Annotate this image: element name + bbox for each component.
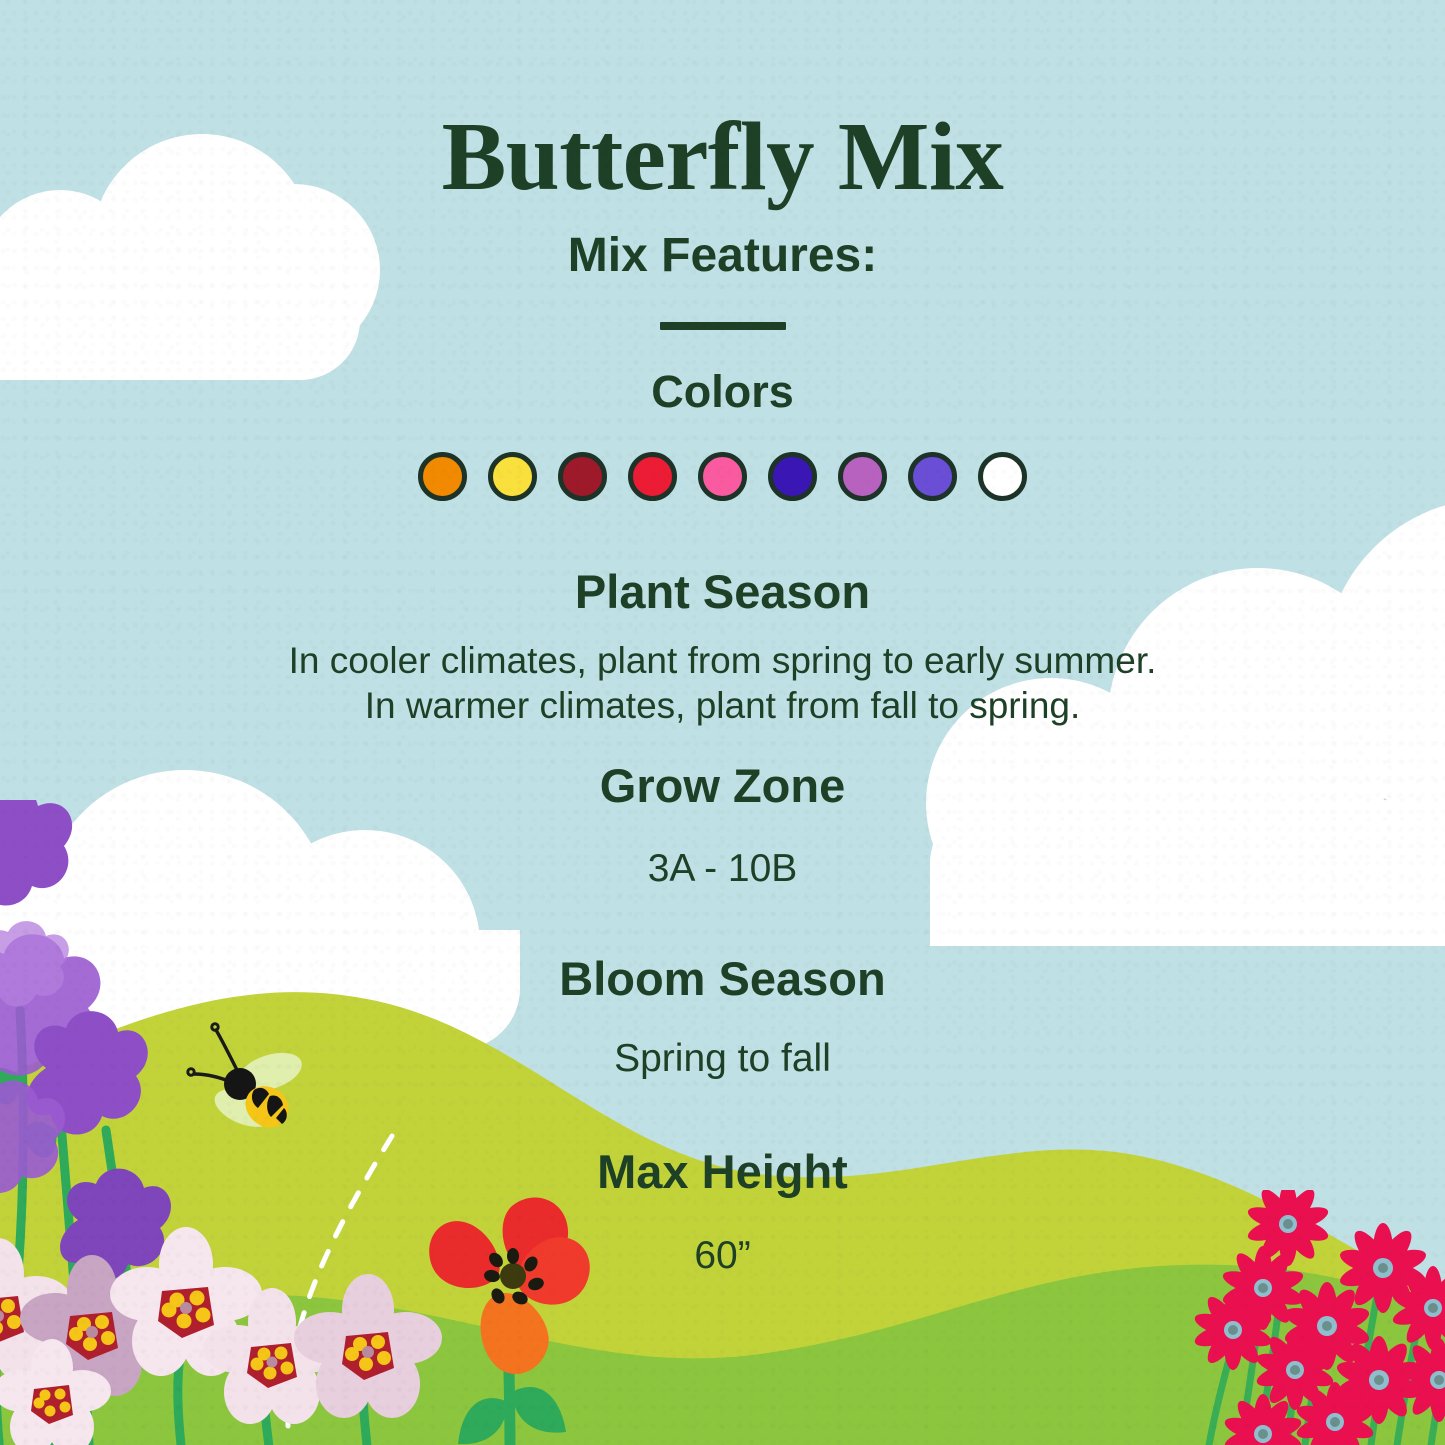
plant-season-line-1: In cooler climates, plant from spring to… <box>0 638 1445 683</box>
mix-features-label: Mix Features: <box>0 232 1445 280</box>
grow-zone-body: 3A - 10B <box>0 845 1445 893</box>
seed-packet-illustration: Butterfly Mix Mix Features: Colors Plant… <box>0 0 1445 1445</box>
colors-heading: Colors <box>0 369 1445 414</box>
bloom-season-body: Spring to fall <box>0 1035 1445 1083</box>
bloom-season-heading: Bloom Season <box>0 955 1445 1002</box>
swatch-blue-violet <box>908 452 957 501</box>
color-swatch-row <box>0 452 1445 501</box>
swatch-orchid <box>838 452 887 501</box>
plant-season-line-2: In warmer climates, plant from fall to s… <box>0 683 1445 728</box>
swatch-red <box>628 452 677 501</box>
swatch-indigo <box>768 452 817 501</box>
page-title: Butterfly Mix <box>0 108 1445 205</box>
swatch-white <box>978 452 1027 501</box>
plant-season-heading: Plant Season <box>0 568 1445 615</box>
plant-season-body: In cooler climates, plant from spring to… <box>0 638 1445 728</box>
max-height-body: 60” <box>0 1232 1445 1280</box>
grow-zone-heading: Grow Zone <box>0 762 1445 809</box>
swatch-pink <box>698 452 747 501</box>
max-height-heading: Max Height <box>0 1148 1445 1195</box>
packet-text-content: Butterfly Mix Mix Features: Colors Plant… <box>0 0 1445 1445</box>
swatch-orange <box>418 452 467 501</box>
swatch-yellow <box>488 452 537 501</box>
divider-rule <box>660 322 786 330</box>
swatch-dark-red <box>558 452 607 501</box>
